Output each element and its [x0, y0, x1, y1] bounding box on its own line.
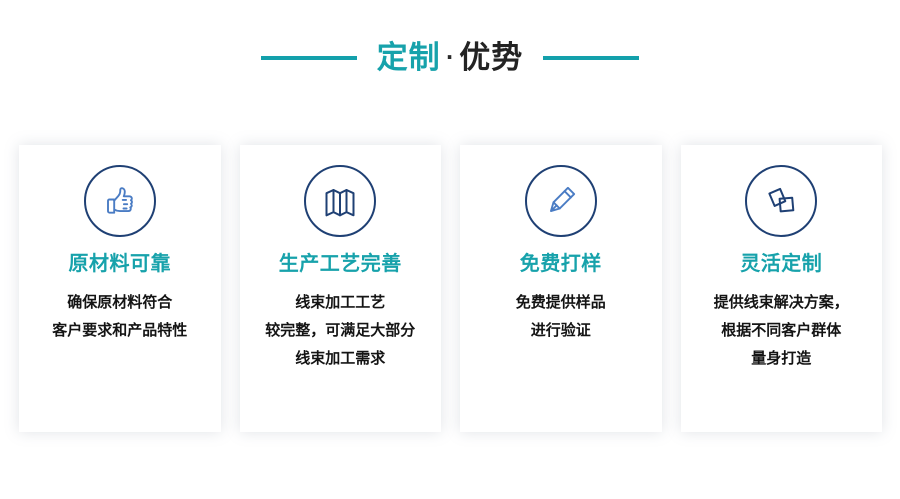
pencil-icon — [525, 165, 597, 237]
feature-card-title: 灵活定制 — [740, 251, 822, 275]
description-line: 客户要求和产品特性 — [29, 316, 211, 344]
description-line: 根据不同客户群体 — [690, 316, 872, 344]
feature-card-list: 原材料可靠 确保原材料符合 客户要求和产品特性 生产工艺完善 线束加工工艺 较完… — [19, 145, 882, 432]
page-title-separator: · — [441, 47, 460, 67]
description-line: 量身打造 — [690, 344, 872, 372]
feature-card-title: 生产工艺完善 — [279, 251, 402, 275]
title-rule-left — [261, 56, 357, 60]
description-line: 提供线束解决方案， — [690, 288, 872, 316]
feature-card[interactable]: 灵活定制 提供线束解决方案， 根据不同客户群体 量身打造 — [681, 145, 883, 432]
feature-card[interactable]: 生产工艺完善 线束加工工艺 较完整，可满足大部分 线束加工需求 — [240, 145, 442, 432]
feature-card-description: 线束加工工艺 较完整，可满足大部分 线束加工需求 — [249, 288, 431, 372]
feature-card-title: 原材料可靠 — [69, 251, 172, 275]
section-header: 定制 · 优势 — [0, 30, 900, 86]
page-title-accent: 定制 — [377, 43, 441, 74]
feature-card-title: 免费打样 — [520, 251, 602, 275]
page-title: 定制 · 优势 — [377, 43, 524, 74]
description-line: 线束加工工艺 — [249, 288, 431, 316]
description-line: 确保原材料符合 — [29, 288, 211, 316]
description-line: 较完整，可满足大部分 — [249, 316, 431, 344]
description-line: 线束加工需求 — [249, 344, 431, 372]
page-title-plain: 优势 — [459, 43, 523, 74]
description-line: 免费提供样品 — [470, 288, 652, 316]
feature-card-description: 确保原材料符合 客户要求和产品特性 — [29, 288, 211, 344]
folded-map-icon — [304, 165, 376, 237]
feature-card-description: 免费提供样品 进行验证 — [470, 288, 652, 344]
description-line: 进行验证 — [470, 316, 652, 344]
stacked-cards-icon — [745, 165, 817, 237]
title-rule-right — [543, 56, 639, 60]
feature-card-description: 提供线束解决方案， 根据不同客户群体 量身打造 — [690, 288, 872, 372]
feature-card[interactable]: 原材料可靠 确保原材料符合 客户要求和产品特性 — [19, 145, 221, 432]
feature-card[interactable]: 免费打样 免费提供样品 进行验证 — [460, 145, 662, 432]
thumbs-up-icon — [84, 165, 156, 237]
